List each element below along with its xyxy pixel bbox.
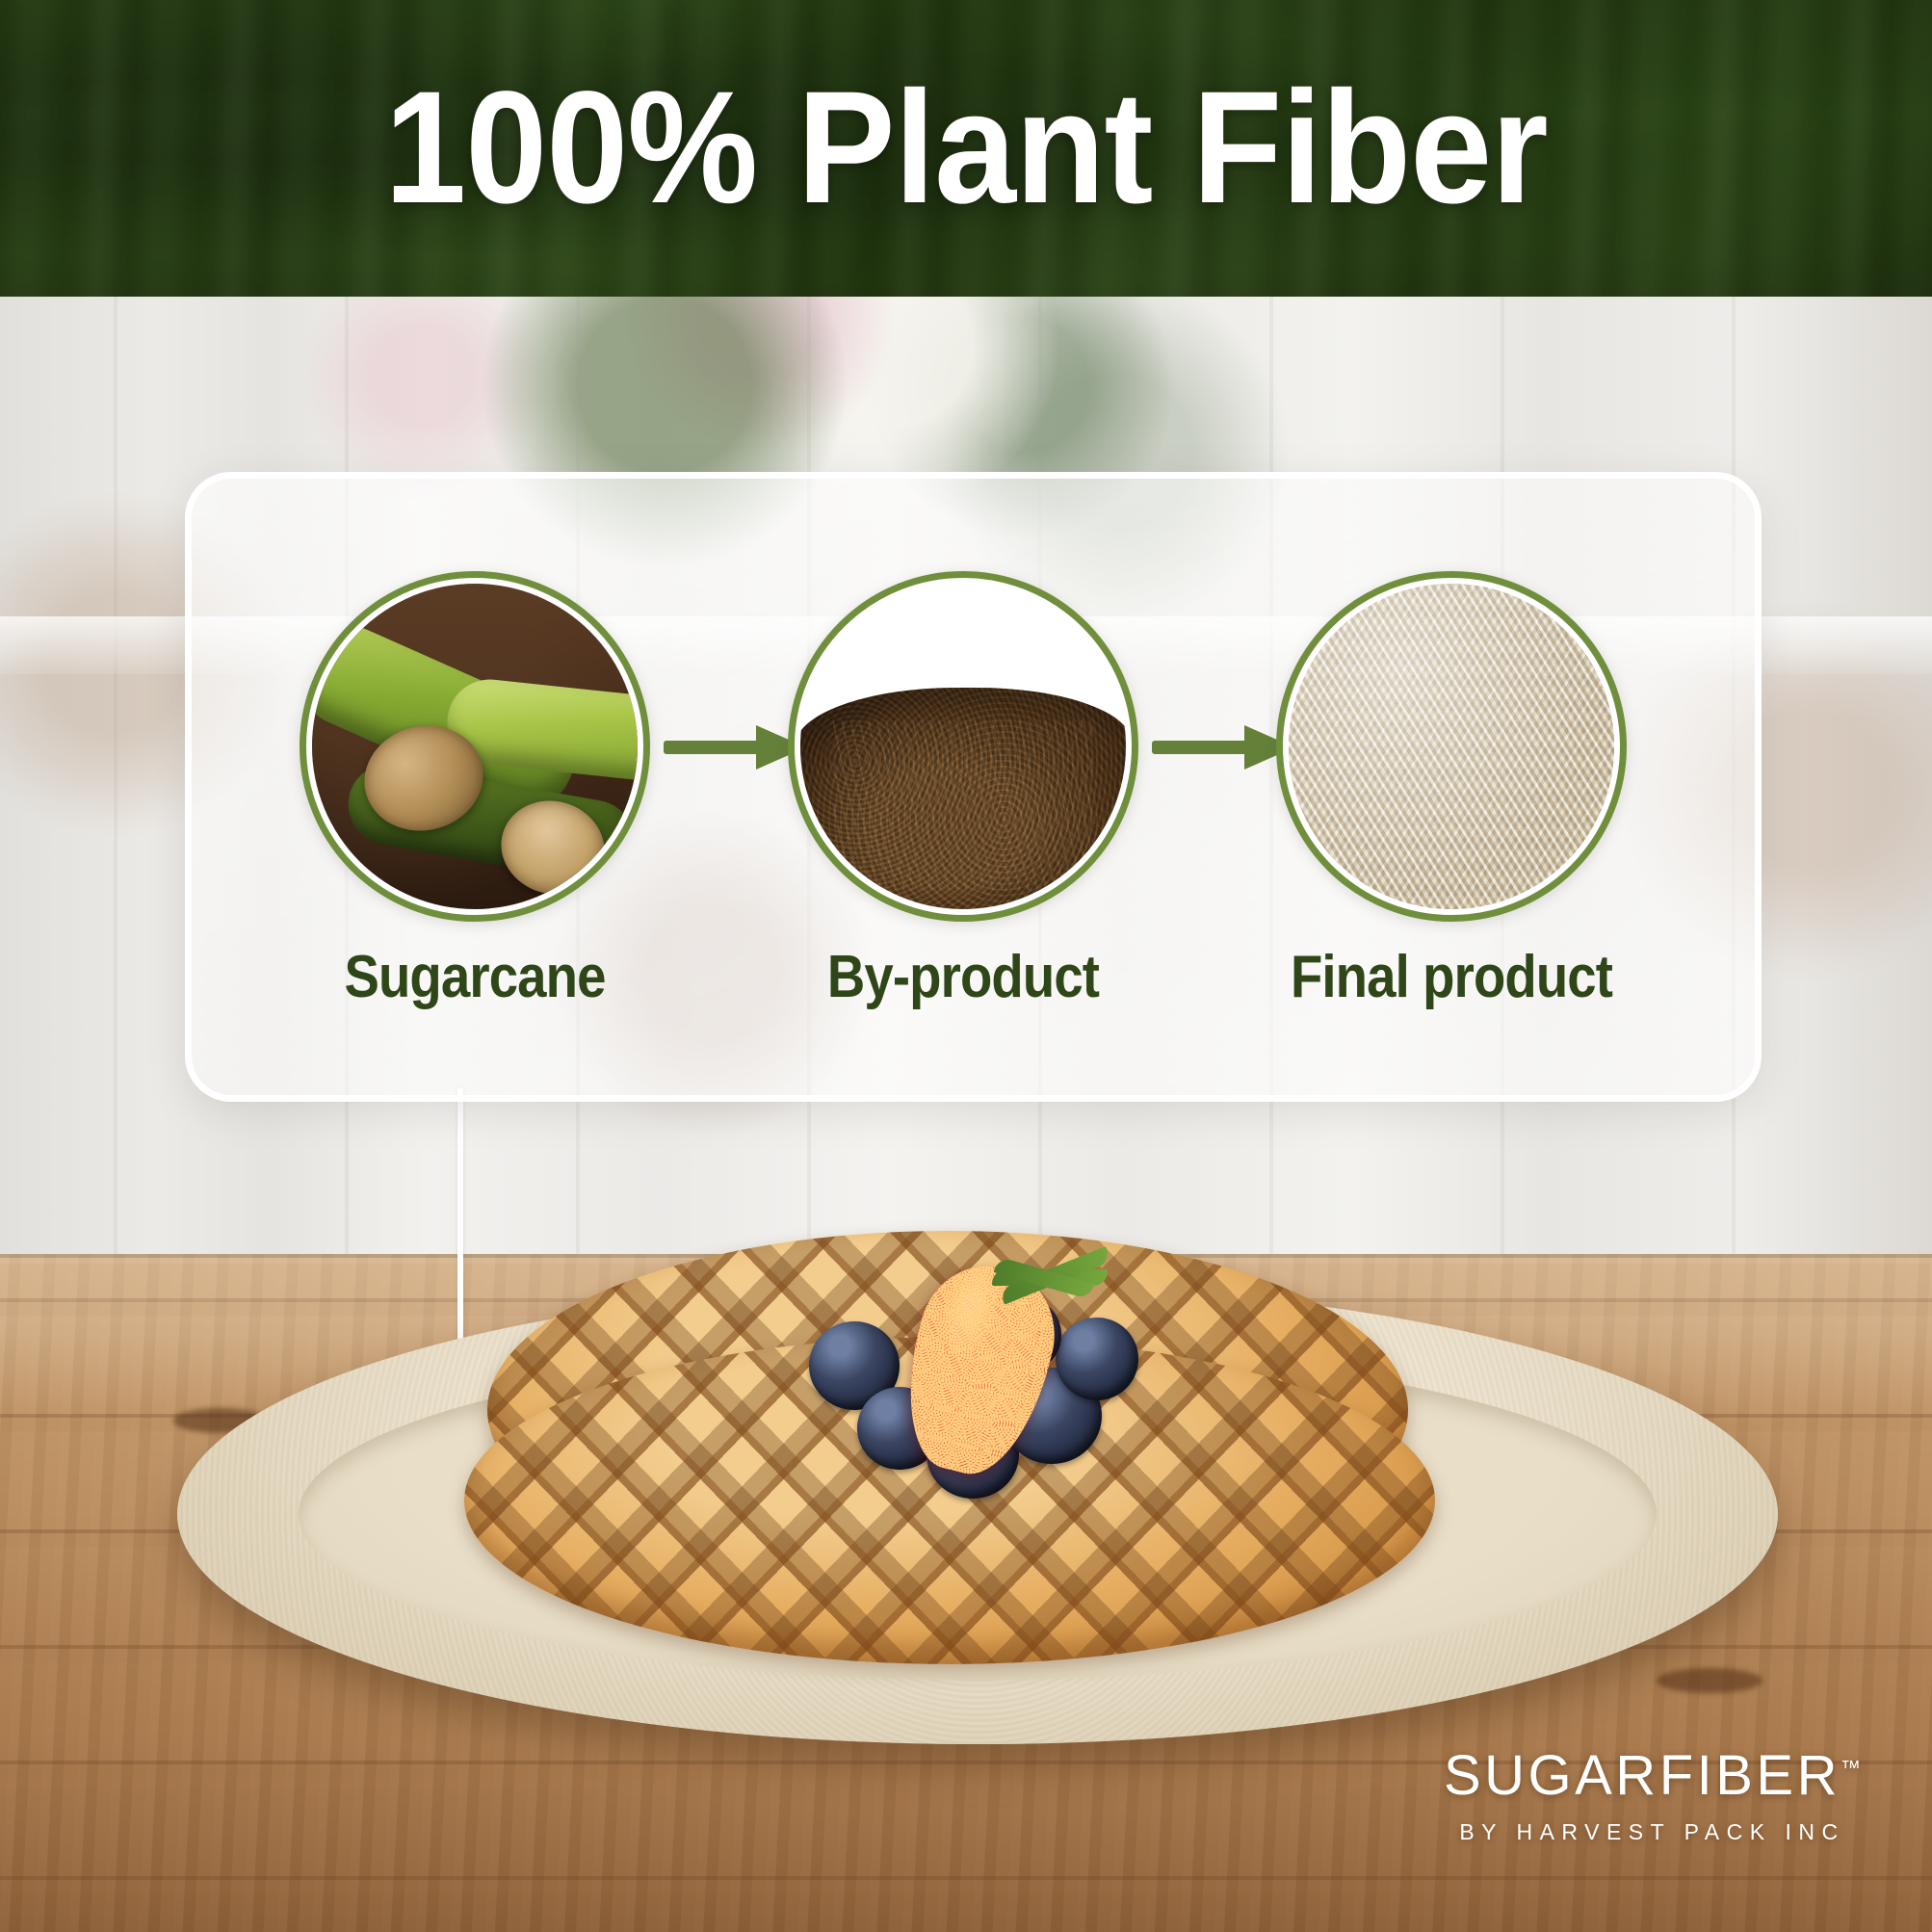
process-card: Sugarcane By-product Final product xyxy=(185,472,1762,1102)
brand-logo: SUGARFIBER™ BY HARVEST PACK INC xyxy=(1444,1748,1861,1845)
arrow-byproduct-to-final-icon xyxy=(1152,723,1296,770)
waffle-stack xyxy=(464,1225,1435,1676)
brand-name: SUGARFIBER™ xyxy=(1444,1748,1861,1804)
blueberry xyxy=(1056,1318,1138,1400)
molded-fiber-texture xyxy=(1289,584,1614,909)
wood-knot xyxy=(1657,1668,1762,1693)
brand-wordmark: SUGARFIBER xyxy=(1444,1744,1841,1807)
sugarcane-photo xyxy=(312,584,638,909)
arrow-sugarcane-to-byproduct-icon xyxy=(664,723,808,770)
brand-tagline: BY HARVEST PACK INC xyxy=(1444,1819,1861,1845)
step-label-final-product: Final product xyxy=(1265,948,1637,1007)
soil-fiber-strands xyxy=(833,720,1093,890)
process-step-final-product[interactable] xyxy=(1276,571,1627,922)
process-step-sugarcane[interactable] xyxy=(300,571,650,922)
berry-garnish xyxy=(803,1260,1150,1501)
bagasse-soil-photo xyxy=(800,584,1126,909)
step-label-byproduct: By-product xyxy=(776,948,1149,1007)
process-step-byproduct[interactable] xyxy=(788,571,1138,922)
process-steps: Sugarcane By-product Final product xyxy=(192,479,1755,1095)
infographic-canvas: 100% Plant Fiber xyxy=(0,0,1932,1932)
trademark-symbol: ™ xyxy=(1841,1758,1861,1780)
step-label-sugarcane: Sugarcane xyxy=(288,948,661,1007)
strawberry-leaf xyxy=(992,1252,1136,1314)
page-title: 100% Plant Fiber xyxy=(77,0,1855,297)
weave-sheen xyxy=(1289,584,1614,909)
leader-line xyxy=(457,1088,463,1365)
